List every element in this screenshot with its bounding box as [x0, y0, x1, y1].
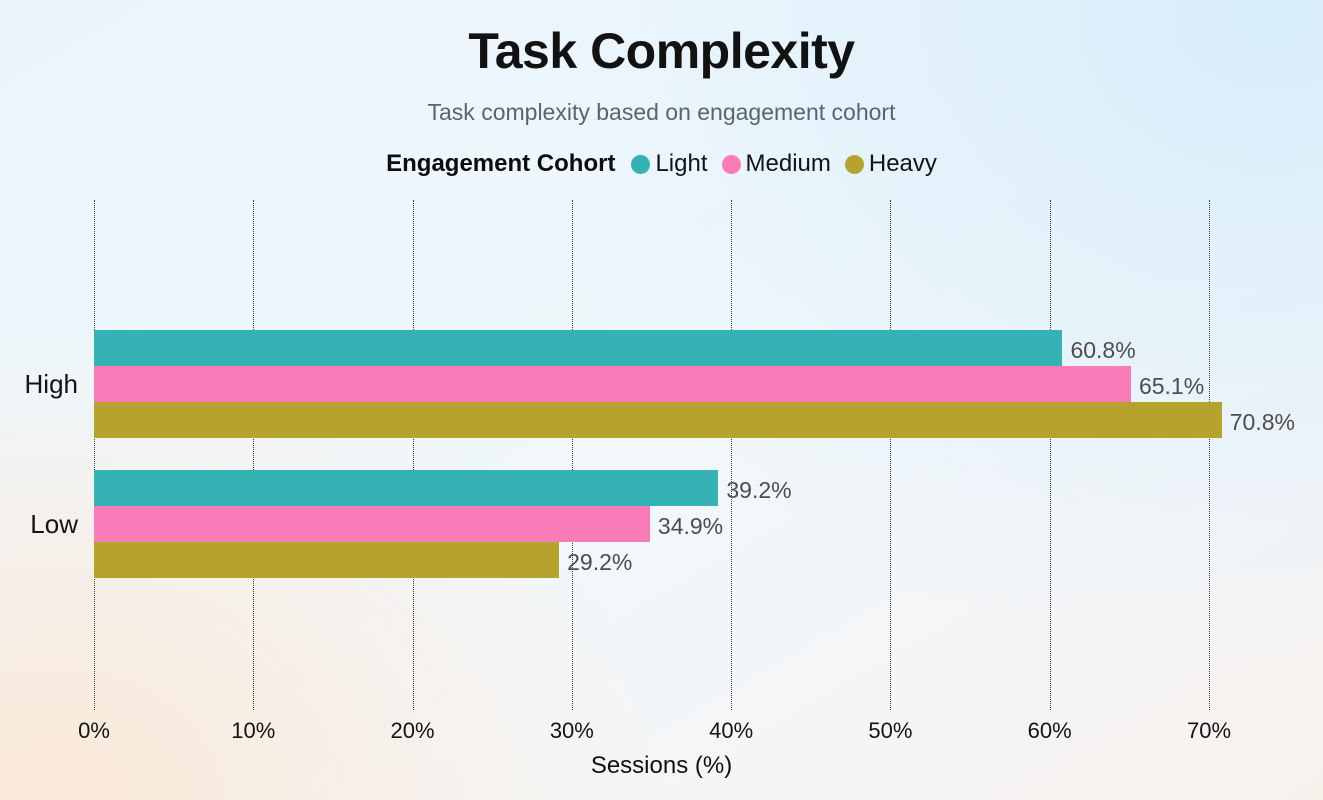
x-tick-label: 10% — [231, 718, 275, 744]
bar-value-label: 34.9% — [658, 515, 723, 538]
gridline — [253, 200, 254, 710]
x-tick-label: 40% — [709, 718, 753, 744]
legend-title: Engagement Cohort — [386, 150, 615, 178]
legend-swatch-light-icon — [631, 155, 650, 174]
x-tick-label: 60% — [1028, 718, 1072, 744]
chart-legend: Engagement Cohort Light Medium Heavy — [0, 150, 1323, 178]
bar-value-label: 39.2% — [726, 479, 791, 502]
legend-label-light: Light — [655, 150, 707, 178]
bar-low-light[interactable] — [94, 470, 718, 506]
chart-title: Task Complexity — [0, 24, 1323, 79]
legend-label-heavy: Heavy — [869, 150, 937, 178]
x-tick-label: 50% — [868, 718, 912, 744]
x-tick-label: 20% — [391, 718, 435, 744]
legend-item-medium[interactable]: Medium — [722, 150, 831, 178]
legend-item-heavy[interactable]: Heavy — [845, 150, 937, 178]
category-label-high: High — [25, 371, 78, 397]
plot-area: High60.8%65.1%70.8%Low39.2%34.9%29.2% — [94, 200, 1209, 710]
legend-swatch-medium-icon — [722, 155, 741, 174]
legend-swatch-heavy-icon — [845, 155, 864, 174]
gridline — [731, 200, 732, 710]
legend-item-light[interactable]: Light — [631, 150, 707, 178]
x-tick-label: 30% — [550, 718, 594, 744]
bar-value-label: 29.2% — [567, 551, 632, 574]
category-label-low: Low — [30, 511, 78, 537]
chart-figure: Task Complexity Task complexity based on… — [0, 0, 1323, 800]
bar-low-medium[interactable] — [94, 506, 650, 542]
gridline — [94, 200, 95, 710]
gridline — [413, 200, 414, 710]
gridline — [890, 200, 891, 710]
gridline — [1050, 200, 1051, 710]
bar-value-label: 70.8% — [1230, 411, 1295, 434]
chart-subtitle: Task complexity based on engagement coho… — [0, 99, 1323, 127]
x-tick-label: 0% — [78, 718, 110, 744]
bar-high-heavy[interactable] — [94, 402, 1222, 438]
x-tick-label: 70% — [1187, 718, 1231, 744]
bar-value-label: 60.8% — [1070, 339, 1135, 362]
gridline — [572, 200, 573, 710]
bar-value-label: 65.1% — [1139, 375, 1204, 398]
gridline — [1209, 200, 1210, 710]
bar-low-heavy[interactable] — [94, 542, 559, 578]
legend-label-medium: Medium — [746, 150, 831, 178]
bar-high-medium[interactable] — [94, 366, 1131, 402]
x-axis-title: Sessions (%) — [0, 752, 1323, 780]
bar-high-light[interactable] — [94, 330, 1062, 366]
